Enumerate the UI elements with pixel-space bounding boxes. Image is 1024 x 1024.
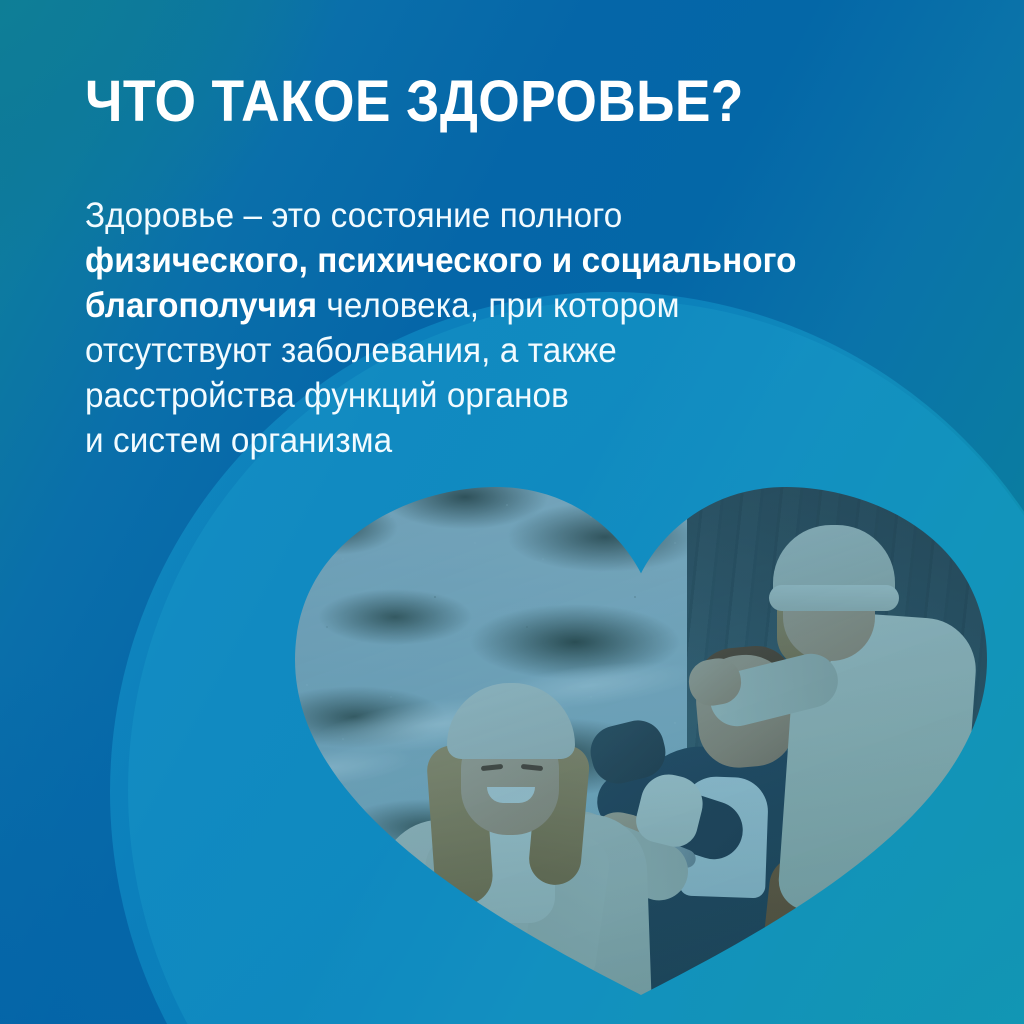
body-line-1: Здоровье – это состояние полного xyxy=(85,193,864,238)
body-line-3: благополучия человека, при котором xyxy=(85,283,864,328)
woman-mitten-left xyxy=(295,810,327,887)
body-line-5: расстройства функций органов xyxy=(85,373,864,418)
body-line-2: физического, психического и социального xyxy=(85,238,864,283)
body-copy: Здоровье – это состояние полного физичес… xyxy=(85,193,864,463)
heart-clip-mask xyxy=(295,487,987,995)
body-emphasis-2: благополучия xyxy=(85,286,317,325)
page-title: ЧТО ТАКОЕ ЗДОРОВЬЕ? xyxy=(85,72,876,132)
body-line-4: отсутствуют заболевания, а также xyxy=(85,328,864,373)
heart-photo xyxy=(295,487,987,995)
body-line-3-tail: человека, при котором xyxy=(317,286,680,325)
body-emphasis-1: физического, психического и социального xyxy=(85,241,797,280)
body-line-6: и систем организма xyxy=(85,418,864,463)
poster-canvas: ЧТО ТАКОЕ ЗДОРОВЬЕ? Здоровье – это состо… xyxy=(0,0,1024,1024)
photo-duotone-screen xyxy=(295,487,987,995)
winter-family-scene xyxy=(295,487,987,995)
